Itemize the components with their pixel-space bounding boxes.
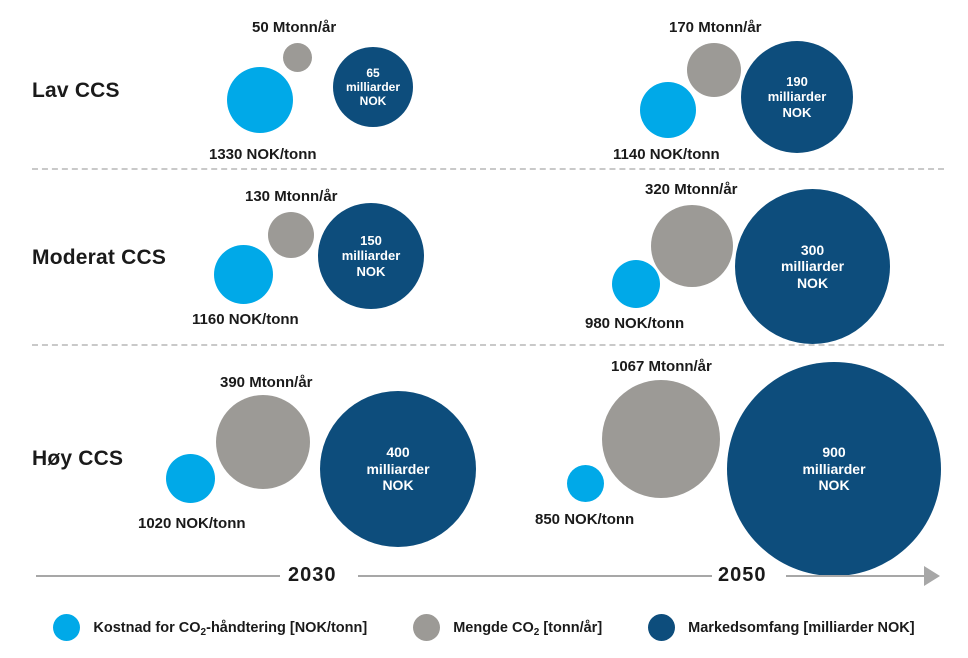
market-bubble-r2c2: 300 milliarder NOK bbox=[735, 189, 890, 344]
legend-market-text-before: Markedsomfang [milliarder NOK] bbox=[688, 620, 914, 636]
volume-bubble-r3c1 bbox=[216, 395, 310, 489]
market-unit1-r2c1: milliarder bbox=[318, 248, 424, 263]
volume-bubble-r1c2 bbox=[687, 43, 741, 97]
row-label-hoy-ccs: Høy CCS bbox=[32, 447, 123, 471]
legend: Kostnad for CO2-håndtering [NOK/tonn] Me… bbox=[0, 614, 968, 641]
legend-item-volume: Mengde CO2 [tonn/år] bbox=[413, 614, 602, 641]
cost-label-r1c1: 1330 NOK/tonn bbox=[209, 146, 317, 163]
legend-volume-subscript: 2 bbox=[534, 627, 540, 638]
volume-label-r1c2: 170 Mtonn/år bbox=[669, 19, 762, 36]
market-unit2-r2c2: NOK bbox=[735, 275, 890, 292]
market-bubble-r1c1: 65 milliarder NOK bbox=[333, 47, 413, 127]
cost-bubble-r2c1 bbox=[214, 245, 273, 304]
cost-label-r2c2: 980 NOK/tonn bbox=[585, 315, 684, 332]
market-bubble-text-r1c2: 190 milliarder NOK bbox=[741, 74, 853, 120]
volume-bubble-r1c1 bbox=[283, 43, 312, 72]
market-unit2-r3c1: NOK bbox=[320, 477, 476, 494]
legend-cost-circle-icon bbox=[53, 614, 80, 641]
divider-row2-row3 bbox=[32, 344, 944, 346]
market-unit2-r1c2: NOK bbox=[741, 105, 853, 120]
timeline-year-2030: 2030 bbox=[288, 564, 337, 587]
volume-bubble-r2c2 bbox=[651, 205, 733, 287]
market-unit1-r1c1: milliarder bbox=[333, 80, 413, 94]
volume-label-r3c1: 390 Mtonn/år bbox=[220, 374, 313, 391]
timeline-segment-1 bbox=[36, 575, 280, 577]
market-bubble-r1c2: 190 milliarder NOK bbox=[741, 41, 853, 153]
market-value-r1c2: 190 bbox=[741, 74, 853, 89]
timeline-arrow-icon bbox=[924, 566, 940, 586]
legend-volume-text-before: Mengde CO bbox=[453, 620, 534, 636]
market-bubble-text-r2c1: 150 milliarder NOK bbox=[318, 233, 424, 279]
market-unit1-r3c2: milliarder bbox=[727, 461, 941, 478]
timeline-segment-2 bbox=[358, 575, 712, 577]
legend-volume-circle-icon bbox=[413, 614, 440, 641]
legend-item-market: Markedsomfang [milliarder NOK] bbox=[648, 614, 914, 641]
timeline-segment-3 bbox=[786, 575, 926, 577]
volume-label-r2c2: 320 Mtonn/år bbox=[645, 181, 738, 198]
infographic-root: Lav CCS Moderat CCS Høy CCS 50 Mtonn/år … bbox=[0, 0, 968, 658]
market-unit2-r3c2: NOK bbox=[727, 477, 941, 494]
legend-label-volume: Mengde CO2 [tonn/år] bbox=[453, 620, 602, 636]
cost-label-r2c1: 1160 NOK/tonn bbox=[192, 311, 299, 328]
market-bubble-text-r2c2: 300 milliarder NOK bbox=[735, 242, 890, 292]
legend-cost-subscript: 2 bbox=[201, 627, 207, 638]
cost-bubble-r3c1 bbox=[166, 454, 215, 503]
divider-row1-row2 bbox=[32, 168, 944, 170]
market-unit2-r1c1: NOK bbox=[333, 94, 413, 108]
timeline-year-2050: 2050 bbox=[718, 564, 767, 587]
cost-bubble-r1c1 bbox=[227, 67, 293, 133]
cost-label-r1c2: 1140 NOK/tonn bbox=[613, 146, 720, 163]
market-unit2-r2c1: NOK bbox=[318, 264, 424, 279]
market-bubble-r2c1: 150 milliarder NOK bbox=[318, 203, 424, 309]
cost-bubble-r3c2 bbox=[567, 465, 604, 502]
market-bubble-text-r1c1: 65 milliarder NOK bbox=[333, 66, 413, 108]
volume-label-r2c1: 130 Mtonn/år bbox=[245, 188, 338, 205]
market-value-r2c2: 300 bbox=[735, 242, 890, 259]
legend-item-cost: Kostnad for CO2-håndtering [NOK/tonn] bbox=[53, 614, 367, 641]
market-bubble-r3c1: 400 milliarder NOK bbox=[320, 391, 476, 547]
volume-bubble-r2c1 bbox=[268, 212, 314, 258]
volume-label-r3c2: 1067 Mtonn/år bbox=[611, 358, 712, 375]
cost-label-r3c2: 850 NOK/tonn bbox=[535, 511, 634, 528]
market-bubble-text-r3c2: 900 milliarder NOK bbox=[727, 444, 941, 494]
market-unit1-r1c2: milliarder bbox=[741, 89, 853, 104]
market-bubble-text-r3c1: 400 milliarder NOK bbox=[320, 444, 476, 494]
cost-bubble-r2c2 bbox=[612, 260, 660, 308]
legend-market-circle-icon bbox=[648, 614, 675, 641]
legend-label-market: Markedsomfang [milliarder NOK] bbox=[688, 620, 914, 636]
market-value-r3c1: 400 bbox=[320, 444, 476, 461]
market-value-r3c2: 900 bbox=[727, 444, 941, 461]
legend-cost-text-after: -håndtering [NOK/tonn] bbox=[206, 620, 367, 636]
legend-label-cost: Kostnad for CO2-håndtering [NOK/tonn] bbox=[93, 620, 367, 636]
legend-cost-text-before: Kostnad for CO bbox=[93, 620, 200, 636]
row-label-lav-ccs: Lav CCS bbox=[32, 79, 120, 103]
market-unit1-r3c1: milliarder bbox=[320, 461, 476, 478]
legend-volume-text-after: [tonn/år] bbox=[539, 620, 602, 636]
row-label-moderat-ccs: Moderat CCS bbox=[32, 246, 166, 270]
cost-bubble-r1c2 bbox=[640, 82, 696, 138]
market-bubble-r3c2: 900 milliarder NOK bbox=[727, 362, 941, 576]
volume-bubble-r3c2 bbox=[602, 380, 720, 498]
cost-label-r3c1: 1020 NOK/tonn bbox=[138, 515, 246, 532]
market-unit1-r2c2: milliarder bbox=[735, 258, 890, 275]
volume-label-r1c1: 50 Mtonn/år bbox=[252, 19, 336, 36]
market-value-r1c1: 65 bbox=[333, 66, 413, 80]
market-value-r2c1: 150 bbox=[318, 233, 424, 248]
